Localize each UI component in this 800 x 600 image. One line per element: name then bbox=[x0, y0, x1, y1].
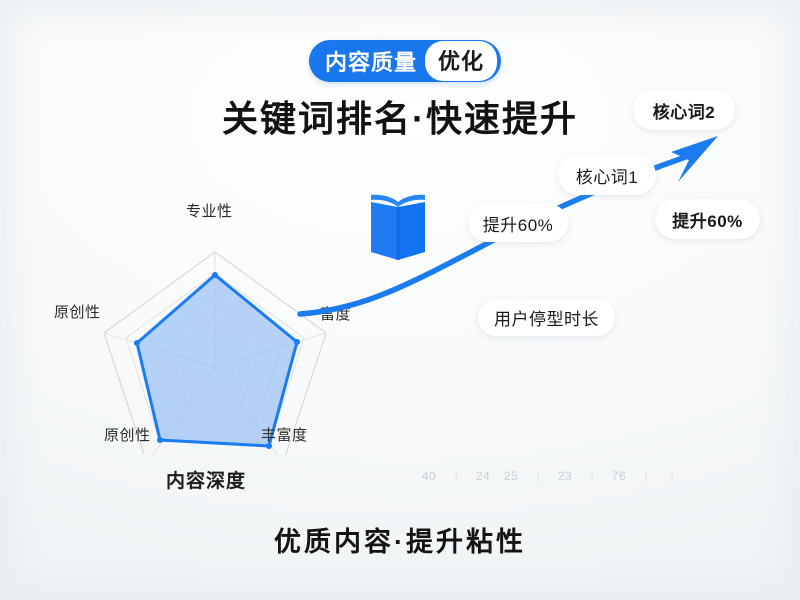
radar-series-polygon bbox=[137, 275, 297, 446]
radar-axis-label-left: 原创性 bbox=[54, 301, 101, 322]
badge-chip-label: 优化 bbox=[425, 41, 497, 81]
radar-axis-label-top: 专业性 bbox=[186, 200, 233, 221]
callout-dwell-time[interactable]: 用户停型时长 bbox=[478, 299, 615, 336]
poster-canvas: 40 | 24 25 | 23 | 76 | | bbox=[0, 0, 800, 600]
page-title: 关键词排名·快速提升 bbox=[0, 90, 800, 142]
axis-tick-mark: | bbox=[443, 469, 469, 483]
callout-uplift-right[interactable]: 提升60% bbox=[655, 199, 760, 239]
axis-tick-row: 40 | 24 25 | 23 | 76 | | bbox=[415, 465, 765, 487]
radar-chart bbox=[90, 240, 340, 455]
axis-tick-label: 40 bbox=[415, 469, 443, 483]
callout-uplift-left[interactable]: 提升60% bbox=[468, 204, 568, 242]
axis-tick-mark: | bbox=[633, 469, 659, 483]
page-subtitle: 优质内容·提升粘性 bbox=[0, 520, 800, 559]
callout-core-keyword-1[interactable]: 核心词1 bbox=[558, 155, 656, 195]
axis-tick-label: 24 bbox=[469, 469, 497, 483]
axis-tick-label: 23 bbox=[551, 469, 579, 483]
axis-tick-label: 76 bbox=[605, 469, 633, 483]
axis-tick-label: 25 bbox=[497, 469, 525, 483]
quality-badge[interactable]: 内容质量 优化 bbox=[309, 40, 501, 82]
badge-main-label: 内容质量 bbox=[325, 45, 425, 77]
radar-axis-label-bottom-left: 原创性 bbox=[104, 424, 151, 445]
arrow-head bbox=[671, 136, 718, 182]
axis-tick-mark: | bbox=[659, 469, 685, 483]
book-icon bbox=[367, 186, 429, 266]
radar-axis-label-right: 富度 bbox=[320, 303, 351, 324]
radar-axis-label-bottom-right: 丰富度 bbox=[261, 424, 308, 445]
axis-tick-mark: | bbox=[579, 469, 605, 483]
radar-caption: 内容深度 bbox=[166, 466, 246, 493]
axis-tick-mark: | bbox=[525, 469, 551, 483]
